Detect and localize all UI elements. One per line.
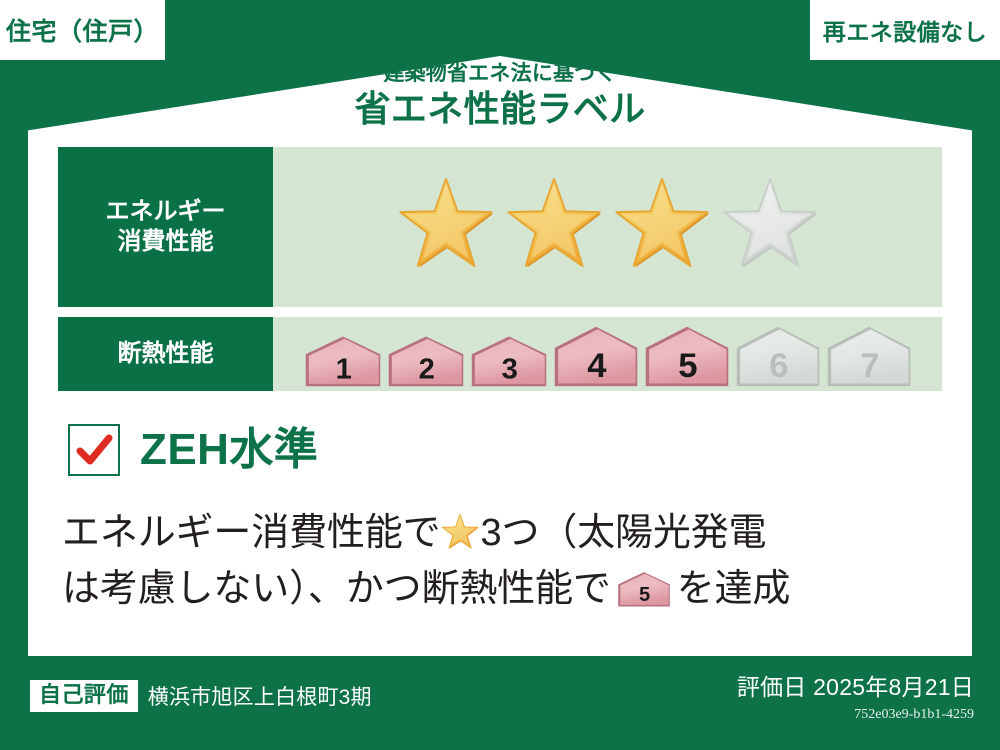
zeh-description-line-1: エネルギー消費性能で 3つ（太陽光発電: [62, 505, 942, 561]
zeh-desc-text-1b: 3つ（太陽光発電: [480, 505, 766, 561]
property-name: 横浜市旭区上白根町3期: [148, 681, 372, 711]
grade-number: 5: [678, 347, 697, 385]
zeh-desc-text-2b: を達成: [677, 561, 791, 617]
insulation-performance-value: 1234567: [273, 317, 942, 391]
zeh-description: エネルギー消費性能で 3つ（太陽光発電 は考慮しない）、かつ断熱性能で 5 を達…: [62, 505, 942, 617]
grade-house-achieved-icon: 4: [553, 325, 639, 387]
star-empty-icon: [719, 176, 821, 278]
energy-header-line-2: 消費性能: [118, 227, 214, 257]
insulation-grade-scale: 1234567: [304, 317, 912, 391]
inline-star-icon: [440, 513, 480, 553]
energy-performance-row: エネルギー 消費性能: [58, 147, 942, 307]
zeh-standard-label: ZEH水準: [140, 428, 318, 472]
energy-performance-header: エネルギー 消費性能: [58, 147, 273, 307]
label-footer: 自己評価 横浜市旭区上白根町3期 評価日 2025年8月21日 752e03e9…: [0, 656, 1000, 750]
zeh-checkbox: [68, 424, 120, 476]
energy-header-line-1: エネルギー: [106, 197, 226, 227]
evaluation-date: 評価日 2025年8月21日: [737, 674, 974, 702]
zeh-heading: ZEH水準: [68, 424, 318, 476]
star-filled-icon: [395, 176, 497, 278]
star-filled-icon: [503, 176, 605, 278]
zeh-desc-text-2a: は考慮しない）、かつ断熱性能で: [62, 561, 611, 617]
insulation-header-label: 断熱性能: [118, 339, 214, 369]
title-block: 建築物省エネ法に基づく 省エネ性能ラベル: [0, 62, 1000, 129]
footer-left-group: 自己評価 横浜市旭区上白根町3期: [30, 680, 372, 712]
grade-number: 6: [769, 347, 788, 385]
star-filled-icon: [611, 176, 713, 278]
footer-right-group: 評価日 2025年8月21日 752e03e9-b1b1-4259: [737, 674, 974, 724]
grade-number: 7: [860, 347, 879, 385]
inline-star-filled-icon: [440, 513, 480, 553]
grade-number: 3: [501, 354, 517, 386]
energy-performance-label: 住宅（住戸） 再エネ設備なし 建築物省エネ法に基づく 省エネ性能ラベル エネルギ…: [0, 0, 1000, 750]
label-identifier: 752e03e9-b1b1-4259: [737, 705, 974, 725]
self-evaluation-badge: 自己評価: [30, 680, 138, 712]
insulation-performance-row: 断熱性能 1234567: [58, 317, 942, 391]
label-subtitle: 建築物省エネ法に基づく: [0, 62, 1000, 85]
grade-house-achieved-icon: 3: [470, 335, 548, 387]
building-type-tag: 住宅（住戸）: [0, 0, 165, 60]
grade-house-inactive-icon: 6: [735, 325, 821, 387]
grade-house-achieved-icon: 1: [304, 335, 382, 387]
energy-performance-value: [273, 147, 942, 307]
grade-house-achieved-icon: 5: [644, 325, 730, 387]
grade-house-inactive-icon: 7: [826, 325, 912, 387]
grade-number: 1: [335, 354, 351, 386]
star-rating: [395, 176, 821, 278]
grade-number: 2: [418, 354, 434, 386]
renewable-energy-tag: 再エネ設備なし: [810, 0, 1000, 60]
label-title: 省エネ性能ラベル: [0, 89, 1000, 129]
grade-house-achieved-icon: 2: [387, 335, 465, 387]
grade-number: 5: [639, 585, 650, 607]
inline-grade-icon: 5: [611, 571, 677, 607]
check-icon: [70, 426, 118, 474]
inline-grade-house-icon: 5: [617, 571, 671, 607]
zeh-description-line-2: は考慮しない）、かつ断熱性能で 5 を達成: [62, 561, 942, 617]
grade-number: 4: [587, 347, 607, 385]
zeh-desc-text-1a: エネルギー消費性能で: [62, 505, 440, 561]
insulation-performance-header: 断熱性能: [58, 317, 273, 391]
